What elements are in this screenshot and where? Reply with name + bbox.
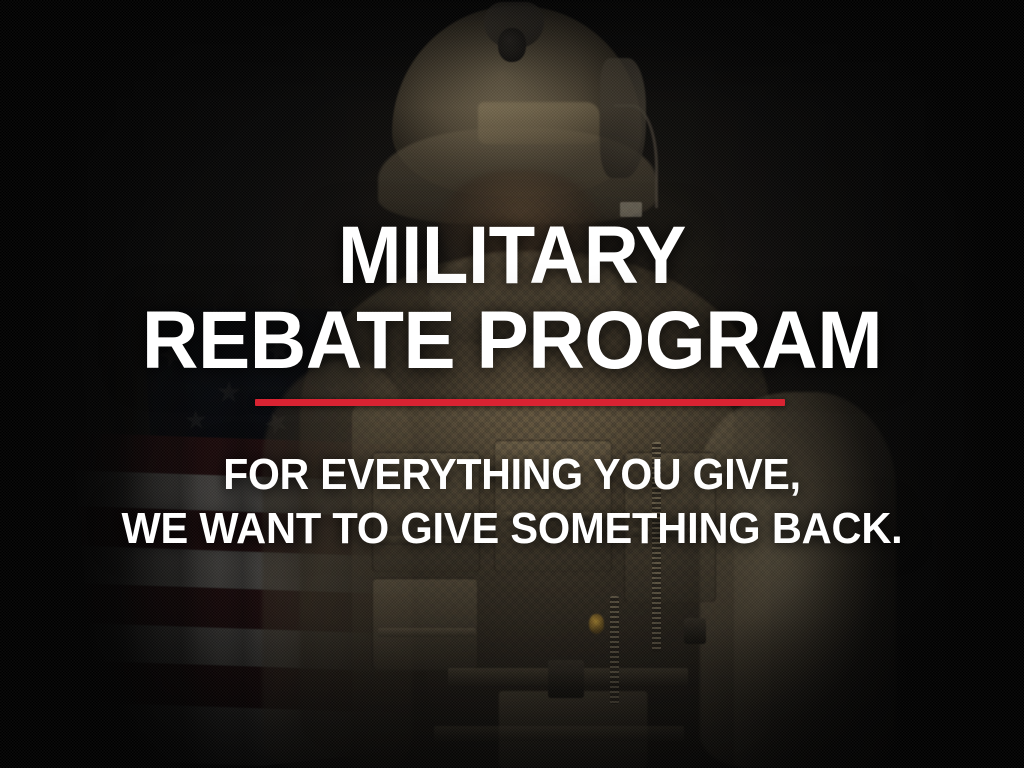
digital-camo-texture — [270, 180, 930, 768]
background-photo — [0, 0, 1024, 768]
military-rebate-banner: MILITARY REBATE PROGRAM FOR EVERYTHING Y… — [0, 0, 1024, 768]
helmet-velcro-patch — [478, 102, 600, 144]
nvg-arm-stub — [498, 28, 526, 62]
soldier-figure — [0, 0, 1024, 768]
